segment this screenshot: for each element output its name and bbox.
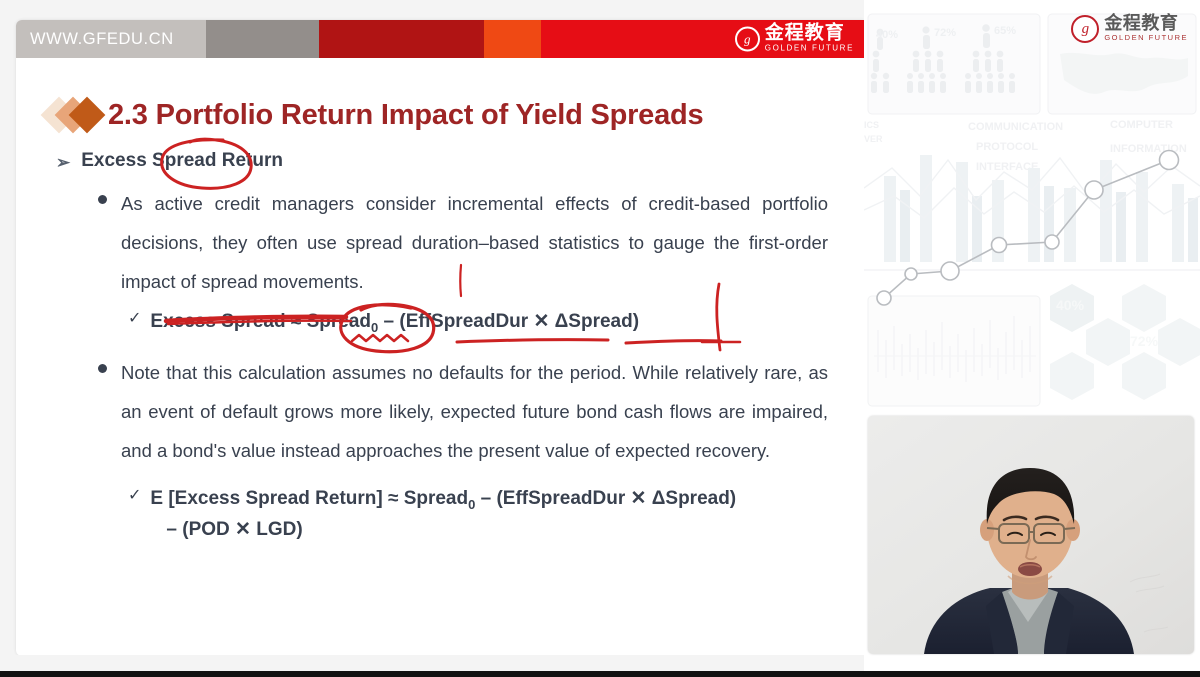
bullet-text: Note that this calculation assumes no de…	[121, 353, 828, 470]
panel-brand-name-cn: 金程教育	[1104, 14, 1188, 32]
svg-text:PROTOCOL: PROTOCOL	[976, 141, 1038, 153]
slide-title-row: 2.3 Portfolio Return Impact of Yield Spr…	[46, 98, 704, 132]
seal-icon: g	[1071, 15, 1099, 43]
formula-text: Excess Spread ≈ Spread0 – (EffSpreadDur …	[150, 307, 639, 338]
section-heading-label: Excess Spread Return	[81, 150, 283, 172]
band-segment-gray	[206, 20, 319, 58]
page-title: 2.3 Portfolio Return Impact of Yield Spr…	[108, 99, 704, 132]
check-bullet-icon: ✓	[128, 484, 141, 509]
seal-icon: g	[735, 27, 760, 52]
presentation-slide: WWW.GFEDU.CN g 金程教育 GOLDEN FUTURE	[16, 20, 864, 656]
bullet-item: Note that this calculation assumes no de…	[98, 353, 828, 470]
presenter-video-frame	[868, 416, 1194, 654]
panel-brand-logo: g 金程教育 GOLDEN FUTURE	[1071, 14, 1188, 44]
slide-brand-logo: g 金程教育 GOLDEN FUTURE	[735, 24, 854, 55]
svg-text:40%: 40%	[876, 29, 898, 41]
panel-brand-name-en: GOLDEN FUTURE	[1104, 32, 1188, 44]
svg-text:COMMUNICATION: COMMUNICATION	[968, 121, 1063, 133]
svg-text:40%: 40%	[1056, 297, 1085, 313]
svg-text:ICS: ICS	[864, 120, 879, 130]
infographic-background: 40% 72%	[864, 0, 1200, 410]
slide-header-band: WWW.GFEDU.CN g 金程教育 GOLDEN FUTURE	[16, 20, 864, 58]
section-heading: ➢ Excess Spread Return	[56, 150, 846, 176]
check-bullet-icon: ✓	[128, 307, 141, 332]
svg-text:72%: 72%	[934, 27, 956, 39]
band-segment-orange	[484, 20, 541, 58]
slide-region: WWW.GFEDU.CN g 金程教育 GOLDEN FUTURE	[0, 0, 864, 677]
slide-body: ➢ Excess Spread Return As active credit …	[56, 150, 846, 545]
arrow-bullet-icon: ➢	[56, 150, 70, 176]
right-panel: 40% 72%	[864, 0, 1200, 677]
app-stage: WWW.GFEDU.CN g 金程教育 GOLDEN FUTURE	[0, 0, 1200, 677]
bullet-text: As active credit managers consider incre…	[121, 184, 828, 301]
formula-item: ✓ E [Excess Spread Return] ≈ Spread0 – (…	[128, 484, 846, 544]
infographic-graphics: 40% 72%	[864, 0, 1200, 410]
presenter-video[interactable]	[868, 416, 1194, 654]
formula-part-a: Excess Spread ≈ Spread	[150, 311, 371, 332]
round-bullet-icon	[98, 195, 107, 204]
slide-bottom-spacer	[0, 655, 864, 671]
svg-text:72%: 72%	[1130, 333, 1159, 349]
band-segment-dark-red	[319, 20, 484, 58]
brand-name-cn: 金程教育	[765, 24, 854, 43]
formula-second-line: – (POD ✕ LGD)	[166, 515, 736, 544]
band-segment-red: g 金程教育 GOLDEN FUTURE	[541, 20, 864, 58]
svg-text:COMPUTER: COMPUTER	[1110, 119, 1173, 131]
bottom-bar	[0, 671, 1200, 677]
svg-text:VER: VER	[864, 134, 883, 144]
website-url-label: WWW.GFEDU.CN	[16, 20, 206, 58]
formula-item: ✓ Excess Spread ≈ Spread0 – (EffSpreadDu…	[128, 307, 846, 338]
diamond-decoration-icon	[46, 98, 108, 132]
formula-text: E [Excess Spread Return] ≈ Spread0 – (Ef…	[150, 484, 736, 544]
brand-name-en: GOLDEN FUTURE	[765, 43, 854, 55]
bullet-item: As active credit managers consider incre…	[98, 184, 828, 301]
formula-part-b: – (EffSpreadDur ✕ ΔSpread)	[475, 488, 736, 509]
round-bullet-icon	[98, 364, 107, 373]
svg-text:65%: 65%	[994, 25, 1016, 37]
formula-part-a: E [Excess Spread Return] ≈ Spread	[150, 488, 468, 509]
formula-part-b: – (EffSpreadDur ✕ ΔSpread)	[378, 311, 639, 332]
